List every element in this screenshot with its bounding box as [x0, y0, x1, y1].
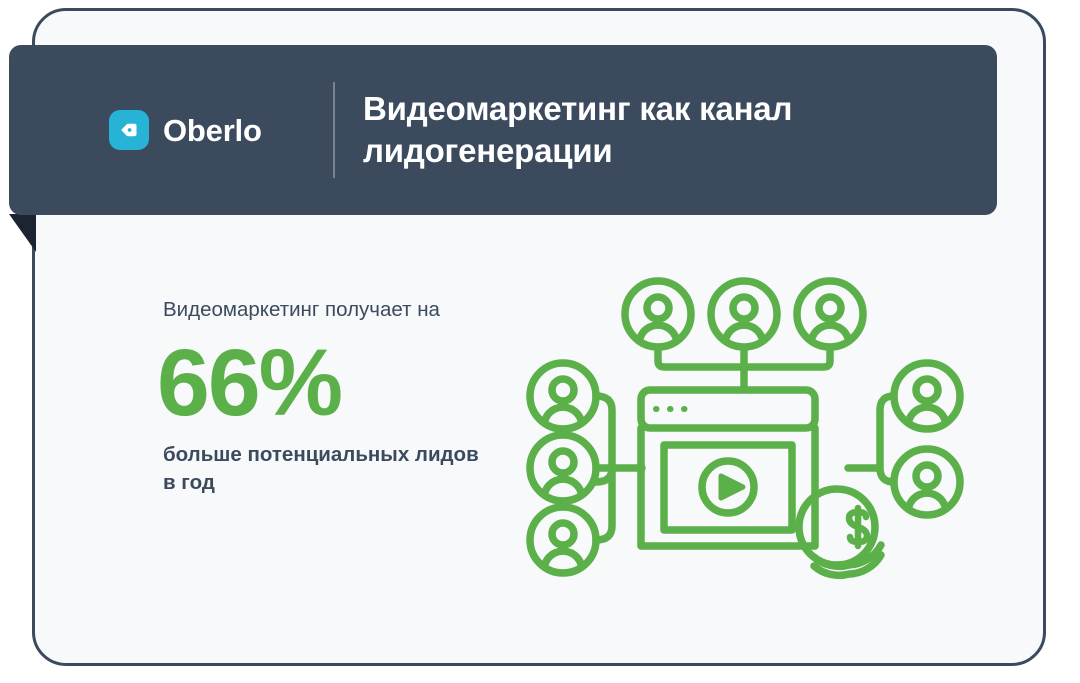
- page-title: Видеомаркетинг как канал лидогенерации: [335, 88, 963, 172]
- play-button: [702, 461, 754, 513]
- brand-lockup: Oberlo: [9, 110, 325, 150]
- user-avatar-top-right: [797, 281, 863, 347]
- stat-caption: больше потенциальных лидов в год: [163, 441, 493, 496]
- user-avatar-left-middle: [530, 435, 596, 501]
- user-avatar-left-upper: [530, 363, 596, 429]
- user-avatar-top-left: [625, 281, 691, 347]
- user-avatar-top-center: [711, 281, 777, 347]
- user-avatar-right-lower: [894, 449, 960, 515]
- infographic-canvas: Oberlo Видеомаркетинг как канал лидогене…: [0, 0, 1080, 683]
- brand-name: Oberlo: [163, 115, 262, 146]
- stat-lead-text: Видеомаркетинг получает на: [163, 296, 493, 324]
- stat-block: Видеомаркетинг получает на 66% больше по…: [163, 296, 493, 496]
- video-marketing-network-illustration: [508, 268, 986, 594]
- ribbon-fold-shape: [9, 214, 36, 252]
- user-avatar-right-upper: [894, 363, 960, 429]
- user-avatar-left-lower: [530, 507, 596, 573]
- header-banner: Oberlo Видеомаркетинг как канал лидогене…: [9, 45, 997, 215]
- stat-value: 66%: [157, 336, 493, 431]
- oberlo-tag-icon: [109, 110, 149, 150]
- header-divider: [333, 82, 335, 178]
